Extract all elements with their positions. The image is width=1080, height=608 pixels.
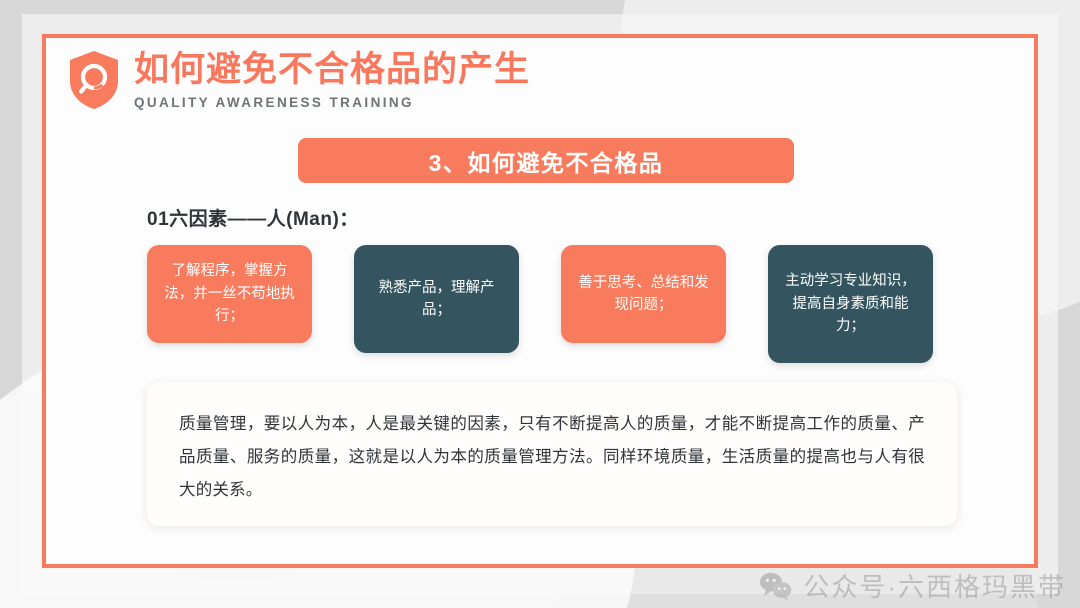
header-text-block: 如何避免不合格品的产生 QUALITY AWARENESS TRAINING <box>134 50 530 109</box>
body-panel: 质量管理，要以人为本，人是最关键的因素，只有不断提高人的质量，才能不断提高工作的… <box>147 382 957 526</box>
factor-card-row: 了解程序，掌握方法，并一丝不苟地执行； 熟悉产品，理解产品； 善于思考、总结和发… <box>147 245 957 365</box>
wechat-icon <box>759 571 793 601</box>
factor-card-text: 熟悉产品，理解产品； <box>365 277 508 322</box>
section-banner-label: 3、如何避免不合格品 <box>429 144 664 178</box>
slide-root: 如何避免不合格品的产生 QUALITY AWARENESS TRAINING 3… <box>0 0 1080 608</box>
page-subtitle-en: QUALITY AWARENESS TRAINING <box>134 95 530 110</box>
footer-watermark: 公众号·六西格玛黑带 <box>759 567 1066 604</box>
page-title: 如何避免不合格品的产生 <box>134 50 530 89</box>
factor-card-text: 主动学习专业知识，提高自身素质和能力； <box>779 270 922 337</box>
slide-content-frame: 如何避免不合格品的产生 QUALITY AWARENESS TRAINING 3… <box>42 34 1038 568</box>
slide-header: 如何避免不合格品的产生 QUALITY AWARENESS TRAINING <box>68 50 530 110</box>
factor-card: 了解程序，掌握方法，并一丝不苟地执行； <box>147 245 312 343</box>
section-subtitle: 01六因素——人(Man)： <box>147 204 359 231</box>
section-banner: 3、如何避免不合格品 <box>298 138 794 183</box>
factor-card: 主动学习专业知识，提高自身素质和能力； <box>768 245 933 363</box>
factor-card: 熟悉产品，理解产品； <box>354 245 519 353</box>
body-paragraph: 质量管理，要以人为本，人是最关键的因素，只有不断提高人的质量，才能不断提高工作的… <box>179 408 925 507</box>
shield-search-icon <box>68 50 120 110</box>
factor-card: 善于思考、总结和发现问题； <box>561 245 726 343</box>
factor-card-text: 善于思考、总结和发现问题； <box>572 272 715 317</box>
factor-card-text: 了解程序，掌握方法，并一丝不苟地执行； <box>158 260 301 327</box>
watermark-text: 公众号·六西格玛黑带 <box>803 567 1066 604</box>
